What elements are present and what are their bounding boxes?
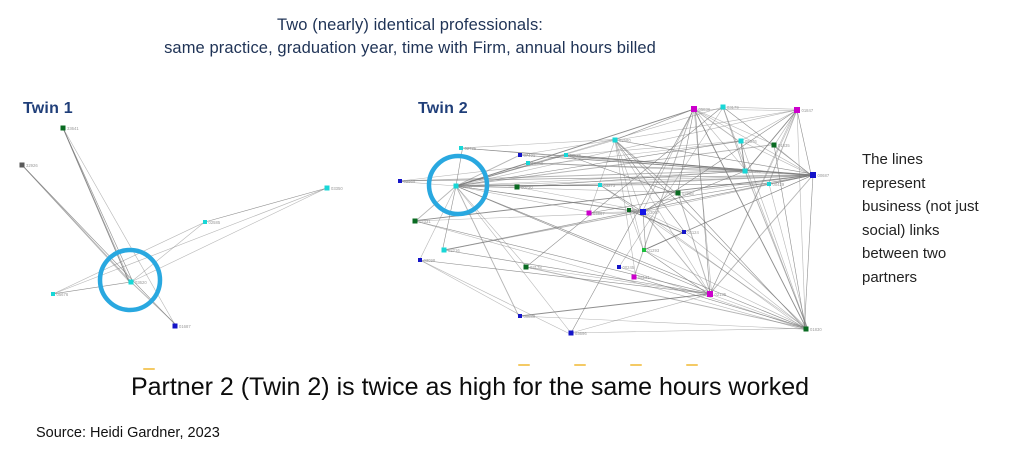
network-node[interactable] — [707, 291, 713, 297]
network-edge — [694, 109, 739, 142]
network-node[interactable] — [325, 186, 330, 191]
network-node-label: 03178 — [530, 265, 542, 270]
network-edge — [461, 139, 617, 148]
note-line-6: partners — [862, 266, 1020, 290]
twin1-network-graph: 33641329260362003350025850567601687 — [0, 110, 400, 355]
network-node-label: 01293 — [648, 248, 660, 253]
network-node-label: 03179 — [727, 105, 739, 110]
network-node-label: 00687 — [818, 173, 830, 178]
network-edge — [53, 188, 326, 294]
twin2-network-svg: 0583603179018470273502565051300742102585… — [398, 95, 853, 360]
network-node-label: 04131 — [638, 275, 650, 280]
headline-line-1: Two (nearly) identical professionals: — [0, 14, 820, 37]
note-line-5: between two — [862, 242, 1020, 266]
network-node-label: 03350 — [331, 186, 343, 191]
network-node-label: 00880 — [524, 314, 536, 319]
slide-canvas: Two (nearly) identical professionals: sa… — [0, 0, 1024, 462]
note-line-2: represent — [862, 172, 1020, 196]
caption-dash-mark — [630, 364, 642, 366]
network-node[interactable] — [569, 331, 574, 336]
network-node-label: 03350 — [532, 161, 544, 166]
network-node[interactable] — [398, 179, 402, 183]
network-node-label: 05676 — [57, 292, 69, 297]
note-line-4: social) links — [862, 219, 1020, 243]
network-node[interactable] — [203, 220, 207, 224]
network-node[interactable] — [173, 324, 178, 329]
network-edge — [131, 189, 325, 282]
network-node-label: 01830 — [810, 327, 822, 332]
network-edge — [456, 186, 527, 267]
network-edge — [571, 294, 709, 333]
network-node[interactable] — [454, 184, 459, 189]
network-node-label: 00245 — [623, 265, 635, 270]
network-edge — [615, 140, 642, 212]
network-node-label: 03696 — [575, 331, 587, 336]
network-node-label: 03273 — [604, 183, 616, 188]
network-node-label: 03867 — [593, 211, 605, 216]
page-title: Two (nearly) identical professionals: sa… — [0, 14, 820, 60]
network-edge — [769, 184, 807, 329]
network-node[interactable] — [129, 280, 134, 285]
network-node[interactable] — [526, 161, 530, 165]
network-node-label: 02331 — [419, 219, 431, 224]
network-node-label: 05130 — [460, 184, 472, 189]
network-node[interactable] — [691, 106, 697, 112]
source-credit: Source: Heidi Gardner, 2023 — [36, 425, 220, 441]
network-node[interactable] — [772, 143, 777, 148]
network-edge — [571, 328, 808, 333]
network-node-label: 02585 — [209, 220, 221, 225]
caption-dash-mark — [518, 364, 530, 366]
network-node-label: 03620 — [135, 280, 147, 285]
network-node[interactable] — [627, 208, 631, 212]
network-node[interactable] — [418, 258, 422, 262]
network-node[interactable] — [413, 219, 418, 224]
note-line-1: The lines — [862, 148, 1020, 172]
network-node-label: 00720 — [521, 185, 533, 190]
caption-dash-mark — [574, 364, 586, 366]
network-node[interactable] — [794, 107, 800, 113]
network-edge — [63, 128, 133, 281]
network-node-label: 07421 — [524, 153, 536, 158]
network-node[interactable] — [20, 163, 25, 168]
caption-dash-mark — [143, 368, 155, 370]
network-edge — [444, 175, 812, 250]
network-edge — [456, 141, 742, 186]
network-node-label: 32926 — [26, 163, 38, 168]
network-node-label: 02585 — [570, 153, 582, 158]
network-node-label: 05676 — [745, 139, 757, 144]
network-node[interactable] — [767, 182, 771, 186]
network-node-label: 01835 — [778, 143, 790, 148]
network-node-label: 33641 — [67, 126, 79, 131]
network-node-label: 02135 — [715, 292, 727, 297]
note-line-3: business (not just — [862, 195, 1020, 219]
network-node[interactable] — [632, 275, 637, 280]
twin2-network-graph: 0583603179018470273502565051300742102585… — [398, 95, 853, 360]
network-edge — [420, 260, 569, 334]
network-node[interactable] — [524, 265, 529, 270]
network-node-label: 00429 — [773, 182, 785, 187]
network-edge — [63, 128, 130, 282]
network-edge — [415, 221, 804, 330]
twin1-network-svg: 33641329260362003350025850567601687 — [0, 110, 400, 355]
network-edge — [804, 175, 813, 330]
network-node-label: 03057 — [648, 210, 660, 215]
network-node[interactable] — [515, 185, 520, 190]
network-node[interactable] — [642, 248, 646, 252]
network-node[interactable] — [617, 265, 621, 269]
network-node-label: 01687 — [179, 324, 191, 329]
network-node[interactable] — [613, 138, 618, 143]
network-edge — [420, 260, 521, 316]
network-node[interactable] — [587, 211, 592, 216]
network-node-label: 05836 — [699, 107, 711, 112]
network-node[interactable] — [743, 169, 748, 174]
network-edge — [629, 210, 643, 250]
network-node[interactable] — [442, 248, 447, 253]
network-node-label: 02216 — [448, 248, 460, 253]
network-node[interactable] — [640, 209, 646, 215]
network-edge — [520, 294, 711, 316]
network-node[interactable] — [739, 139, 744, 144]
network-node-label: 02565 — [404, 179, 416, 184]
network-edge — [566, 155, 676, 194]
network-edge — [517, 187, 645, 211]
network-node[interactable] — [459, 146, 463, 150]
network-node-label: 03098 — [424, 258, 436, 263]
network-node[interactable] — [682, 230, 686, 234]
network-node[interactable] — [598, 183, 602, 187]
network-node-label: 02394 — [749, 169, 761, 174]
network-node[interactable] — [804, 327, 809, 332]
network-edge — [444, 250, 711, 294]
network-edge — [400, 171, 746, 181]
network-edge — [22, 165, 131, 282]
network-edge — [131, 282, 177, 325]
network-edge — [644, 110, 797, 212]
network-edge — [643, 212, 805, 329]
slide-caption: Partner 2 (Twin 2) is twice as high for … — [0, 372, 940, 402]
network-node[interactable] — [61, 126, 66, 131]
node-layer: 33641329260362003350025850567601687 — [20, 126, 344, 330]
network-node[interactable] — [721, 105, 726, 110]
network-edge — [526, 267, 807, 329]
network-node-label: 01847 — [802, 108, 814, 113]
network-node-label: 02988 — [682, 191, 694, 196]
network-node[interactable] — [51, 292, 55, 296]
network-edge — [634, 277, 808, 328]
network-node-label: 01124 — [688, 230, 700, 235]
network-node[interactable] — [676, 191, 681, 196]
network-node[interactable] — [564, 153, 568, 157]
headline-line-2: same practice, graduation year, time wit… — [0, 37, 820, 60]
network-node-label: 02735 — [465, 146, 477, 151]
caption-dash-mark — [686, 364, 698, 366]
network-edge — [589, 140, 615, 213]
network-node-label: 02580 — [619, 138, 631, 143]
network-node[interactable] — [810, 172, 816, 178]
lines-explanation-note: The lines represent business (not just s… — [862, 148, 1020, 289]
network-node[interactable] — [518, 314, 522, 318]
network-node[interactable] — [518, 153, 522, 157]
